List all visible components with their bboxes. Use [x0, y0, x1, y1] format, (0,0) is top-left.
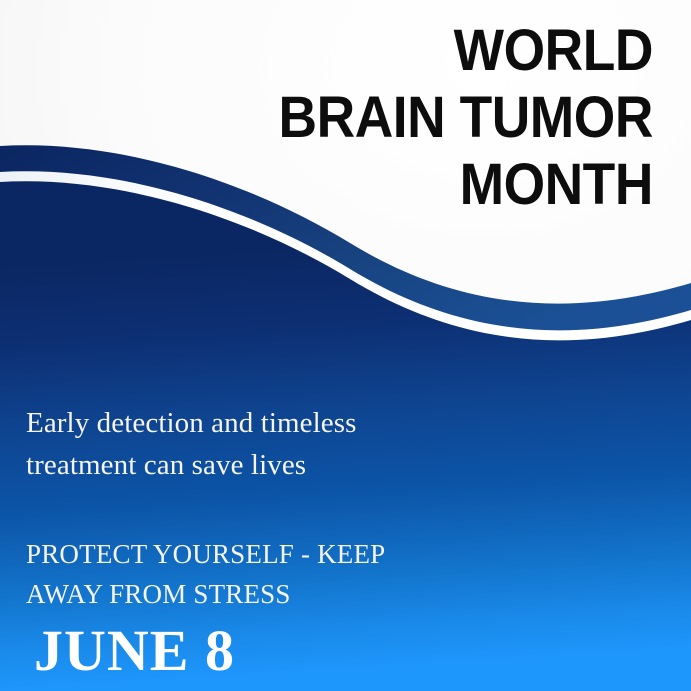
slogan-line-2: AWAY FROM STRESS: [26, 574, 586, 615]
headline-line-world: WORLD: [279, 22, 653, 80]
page-title: WORLD BRAIN TUMOR MONTH: [246, 22, 653, 223]
lead-message: Early detection and timeless treatment c…: [26, 402, 586, 487]
lead-line-2: treatment can save lives: [26, 449, 306, 481]
slogan-message: PROTECT YOURSELF - KEEP AWAY FROM STRESS: [26, 534, 586, 615]
body-copy: Early detection and timeless treatment c…: [26, 402, 586, 615]
headline-line-brain-tumor: BRAIN TUMOR: [279, 89, 653, 147]
event-date: JUNE 8: [34, 622, 235, 680]
headline-line-month: MONTH: [279, 156, 653, 214]
lead-line-1: Early detection and timeless: [26, 407, 357, 439]
poster-canvas: WORLD BRAIN TUMOR MONTH Early detection …: [0, 0, 691, 691]
slogan-line-1: PROTECT YOURSELF - KEEP: [26, 534, 586, 575]
